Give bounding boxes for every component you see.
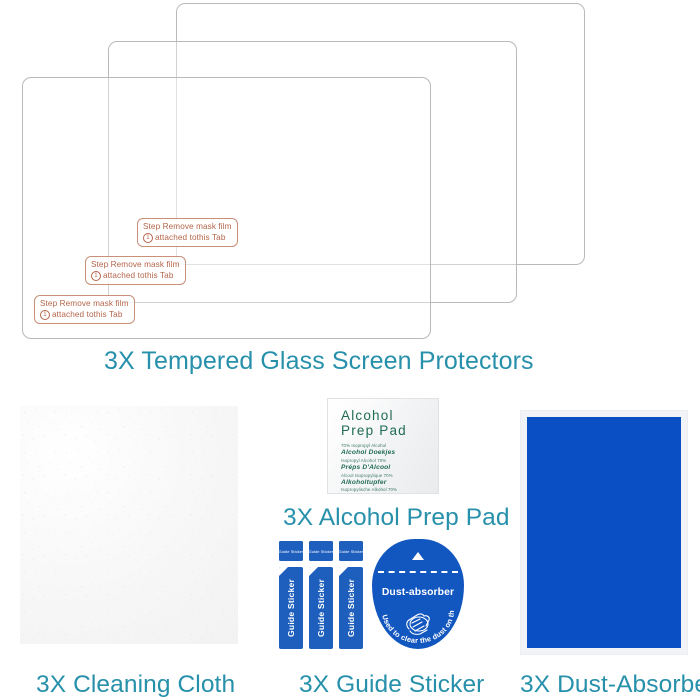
screen-protectors-group: Step Remove mask film 1 attached tothis … bbox=[0, 0, 700, 340]
alcohol-pad-line-de-small: Isopropylische Alkohol 70% bbox=[341, 487, 433, 493]
step-number-icon: 1 bbox=[143, 233, 153, 243]
alcohol-pad-language-list: 70% Isopropyl Alcohol Alcohol Doekjes Is… bbox=[341, 443, 433, 494]
guide-sticker-1-tab-label: Guide Sticker bbox=[279, 549, 304, 554]
guide-sticker-1: Guide Sticker Guide Sticker bbox=[279, 541, 303, 649]
protector-tab-1: Step Remove mask film 1 attached tothis … bbox=[137, 218, 238, 247]
dust-absorber-caption: 3X Dust-Absorber bbox=[520, 671, 700, 699]
product-infographic: Step Remove mask film 1 attached tothis … bbox=[0, 0, 700, 700]
guide-sticker-3-tab: Guide Sticker bbox=[339, 541, 363, 561]
protector-tab-1-line1: Step Remove mask film bbox=[143, 222, 232, 233]
guide-sticker-2-tab: Guide Sticker bbox=[309, 541, 333, 561]
protector-tab-2-line2-row: 1 attached tothis Tab bbox=[91, 271, 180, 282]
guide-sticker-3-body: Guide Sticker bbox=[339, 567, 363, 649]
cleaning-cloth bbox=[16, 400, 242, 650]
alcohol-pad-line-de: Alkoholtupfer bbox=[341, 479, 433, 488]
alcohol-pad-line-fr: Préps D'Alcool bbox=[341, 464, 433, 473]
alcohol-pad-heading-line1: Alcohol bbox=[341, 409, 433, 424]
alcohol-pad-text-block: Alcohol Prep Pad 70% Isopropyl Alcohol A… bbox=[341, 409, 433, 494]
alcohol-pad-heading-line2: Prep Pad bbox=[341, 424, 433, 439]
dust-absorber-sheet bbox=[520, 410, 688, 655]
protector-tab-2: Step Remove mask film 1 attached tothis … bbox=[85, 256, 186, 285]
dust-absorber-sheet-surface bbox=[527, 417, 681, 648]
guide-sticker-caption: 3X Guide Sticker bbox=[299, 671, 484, 699]
guide-sticker-2-body: Guide Sticker bbox=[309, 567, 333, 649]
alcohol-prep-pad: Alcohol Prep Pad 70% Isopropyl Alcohol A… bbox=[327, 398, 439, 494]
step-number-icon: 1 bbox=[91, 271, 101, 281]
guide-sticker-2-tab-label: Guide Sticker bbox=[309, 549, 334, 554]
guide-sticker-3-tab-label: Guide Sticker bbox=[339, 549, 364, 554]
protector-tab-1-line2-row: 1 attached tothis Tab bbox=[143, 233, 232, 244]
guide-sticker-1-tab: Guide Sticker bbox=[279, 541, 303, 561]
protector-tab-3-line2: attached tothis Tab bbox=[52, 310, 122, 321]
hand-icon bbox=[401, 611, 435, 637]
guide-sticker-2: Guide Sticker Guide Sticker bbox=[309, 541, 333, 649]
step-number-icon: 1 bbox=[40, 310, 50, 320]
cleaning-cloth-pinked-edge bbox=[16, 400, 242, 650]
guide-sticker-3: Guide Sticker Guide Sticker bbox=[339, 541, 363, 649]
guide-sticker-1-body: Guide Sticker bbox=[279, 567, 303, 649]
guide-sticker-2-body-label: Guide Sticker bbox=[309, 567, 333, 649]
guide-stickers-group: Guide Sticker Guide Sticker Guide Sticke… bbox=[279, 541, 365, 649]
alcohol-prep-pad-caption: 3X Alcohol Prep Pad bbox=[283, 504, 510, 532]
cleaning-cloth-caption: 3X Cleaning Cloth bbox=[36, 671, 235, 699]
protector-tab-1-line2: attached tothis Tab bbox=[155, 233, 225, 244]
dust-absorber-tab: Dust-absorber Used to clear the dust on … bbox=[372, 539, 464, 649]
protector-tab-2-line1: Step Remove mask film bbox=[91, 260, 180, 271]
guide-sticker-1-body-label: Guide Sticker bbox=[279, 567, 303, 649]
protector-tab-2-line2: attached tothis Tab bbox=[103, 271, 173, 282]
protector-tab-3-line1: Step Remove mask film bbox=[40, 299, 129, 310]
protector-tab-3-line2-row: 1 attached tothis Tab bbox=[40, 310, 129, 321]
alcohol-pad-line-nl: Alcohol Doekjes bbox=[341, 449, 433, 458]
protector-tab-3: Step Remove mask film 1 attached tothis … bbox=[34, 295, 135, 324]
page-title: 3X Tempered Glass Screen Protectors bbox=[104, 347, 534, 376]
guide-sticker-3-body-label: Guide Sticker bbox=[339, 567, 363, 649]
